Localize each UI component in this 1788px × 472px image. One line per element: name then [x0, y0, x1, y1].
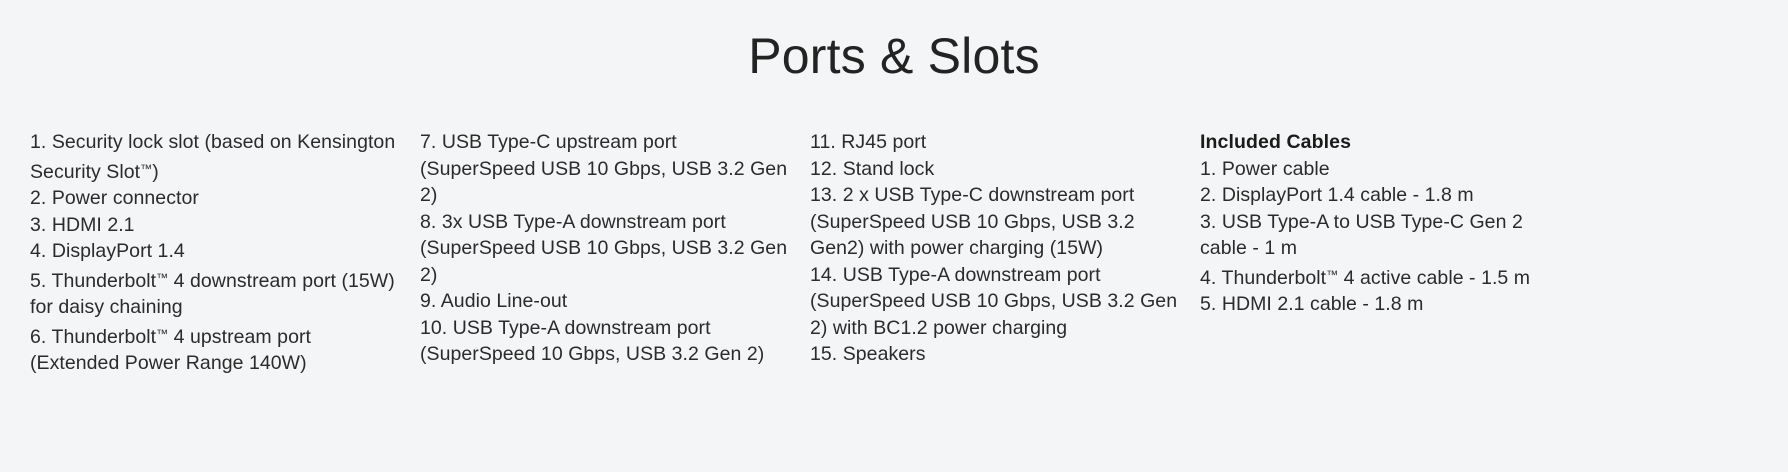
- list-item: 12. Stand lock: [810, 156, 1178, 183]
- list-item: 15. Speakers: [810, 341, 1178, 368]
- trademark-glyph: ™: [156, 327, 168, 341]
- list-item: 10. USB Type-A downstream port (SuperSpe…: [420, 315, 788, 368]
- list-item: 13. 2 x USB Type-C downstream port (Supe…: [810, 182, 1178, 262]
- list-item: 5. HDMI 2.1 cable - 1.8 m: [1200, 291, 1568, 318]
- list-item: 5. Thunderbolt™ 4 downstream port (15W) …: [30, 265, 398, 321]
- list-item: 1. Power cable: [1200, 156, 1568, 183]
- trademark-glyph: ™: [1326, 268, 1338, 282]
- list-item: 8. 3x USB Type-A downstream port (SuperS…: [420, 209, 788, 289]
- trademark-glyph: ™: [140, 162, 152, 176]
- list-item: 4. DisplayPort 1.4: [30, 238, 398, 265]
- list-item: 2. DisplayPort 1.4 cable - 1.8 m: [1200, 182, 1568, 209]
- list-item: 4. Thunderbolt™ 4 active cable - 1.5 m: [1200, 262, 1568, 292]
- ports-column-1: 1. Security lock slot (based on Kensingt…: [30, 129, 420, 377]
- list-item: 3. HDMI 2.1: [30, 212, 398, 239]
- list-item: 1. Security lock slot (based on Kensingt…: [30, 129, 398, 185]
- list-item: 9. Audio Line-out: [420, 288, 788, 315]
- ports-column-2: 7. USB Type-C upstream port (SuperSpeed …: [420, 129, 810, 368]
- included-cables-heading: Included Cables: [1200, 129, 1568, 156]
- included-cables-column: Included Cables 1. Power cable 2. Displa…: [1200, 129, 1590, 318]
- ports-and-slots-panel: Ports & Slots 1. Security lock slot (bas…: [0, 0, 1788, 472]
- list-item: 2. Power connector: [30, 185, 398, 212]
- spec-columns: 1. Security lock slot (based on Kensingt…: [0, 129, 1788, 377]
- list-item: 6. Thunderbolt™ 4 upstream port (Extende…: [30, 321, 398, 377]
- trademark-glyph: ™: [156, 271, 168, 285]
- ports-column-3: 11. RJ45 port 12. Stand lock 13. 2 x USB…: [810, 129, 1200, 368]
- list-item: 3. USB Type-A to USB Type-C Gen 2 cable …: [1200, 209, 1568, 262]
- list-item: 14. USB Type-A downstream port (SuperSpe…: [810, 262, 1178, 342]
- page-title: Ports & Slots: [0, 0, 1788, 86]
- list-item: 11. RJ45 port: [810, 129, 1178, 156]
- list-item: 7. USB Type-C upstream port (SuperSpeed …: [420, 129, 788, 209]
